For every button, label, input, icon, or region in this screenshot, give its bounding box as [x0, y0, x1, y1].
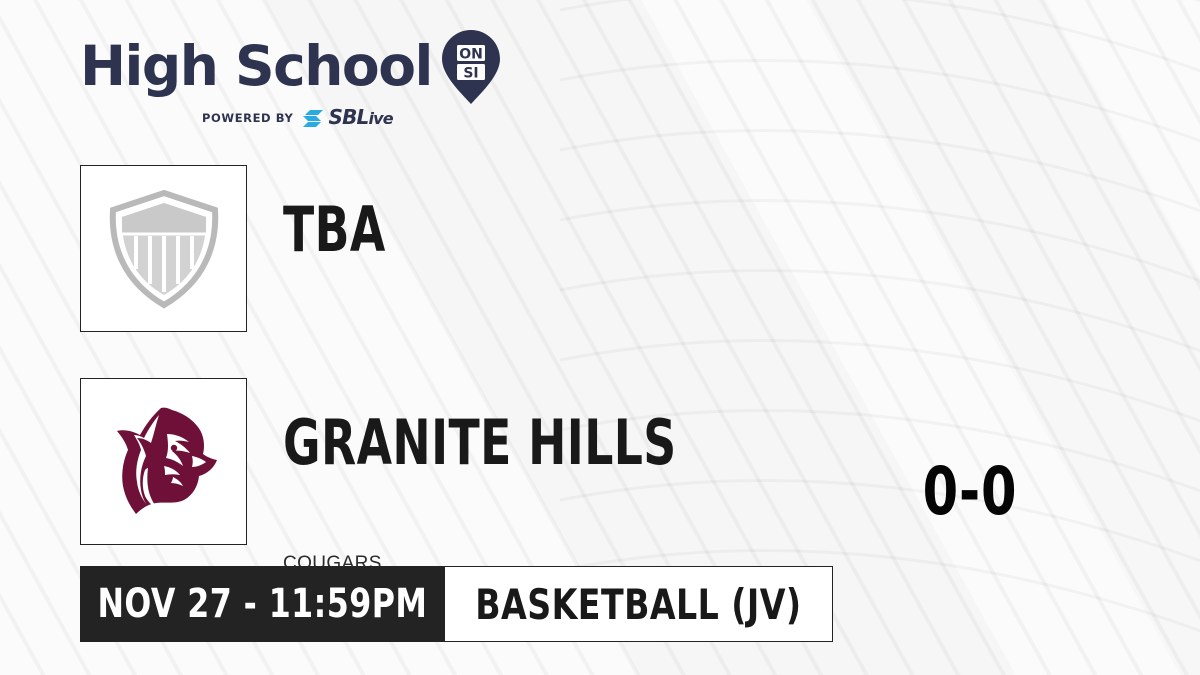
- sblive-word-lower: ive: [368, 109, 392, 128]
- sblive-wordmark: SBLive: [328, 107, 392, 129]
- away-team-logo-card: [80, 165, 247, 332]
- team-row-home: GRANITE HILLS COUGARS: [80, 378, 763, 575]
- brand-header: High School ON SI POWERED BY SBL: [80, 34, 520, 129]
- away-team-text: TBA: [247, 165, 408, 261]
- team-row-away: TBA: [80, 165, 408, 332]
- svg-text:ON: ON: [459, 47, 483, 63]
- sblive-word-upper: SBL: [328, 105, 368, 129]
- brand-title: High School: [80, 39, 432, 94]
- home-team-name: GRANITE HILLS: [283, 412, 677, 474]
- score-display: 0-0: [875, 452, 1064, 532]
- game-info-bar: NOV 27 - 11:59PM BASKETBALL (JV): [80, 566, 833, 642]
- game-sport-bar: BASKETBALL (JV): [445, 566, 833, 642]
- brand-wordmark: High School ON SI: [80, 34, 520, 98]
- powered-by-label: POWERED BY: [202, 111, 293, 125]
- home-team-text: GRANITE HILLS COUGARS: [247, 378, 763, 575]
- game-datetime-bar: NOV 27 - 11:59PM: [80, 566, 445, 642]
- game-sport-label: BASKETBALL (JV): [475, 580, 801, 629]
- powered-by-row: POWERED BY SBLive: [80, 107, 520, 129]
- placeholder-shield-icon: [105, 189, 223, 309]
- sblive-mark-icon: [302, 109, 324, 128]
- sblive-logo: SBLive: [302, 107, 392, 129]
- game-card-graphic: High School ON SI POWERED BY SBL: [0, 0, 1200, 675]
- on-si-pin-icon: ON SI: [442, 30, 500, 104]
- home-team-logo-card: [80, 378, 247, 545]
- svg-text:SI: SI: [463, 66, 478, 82]
- cougar-head-icon: [104, 404, 224, 520]
- away-team-name: TBA: [283, 199, 386, 261]
- game-datetime-label: NOV 27 - 11:59PM: [98, 581, 428, 627]
